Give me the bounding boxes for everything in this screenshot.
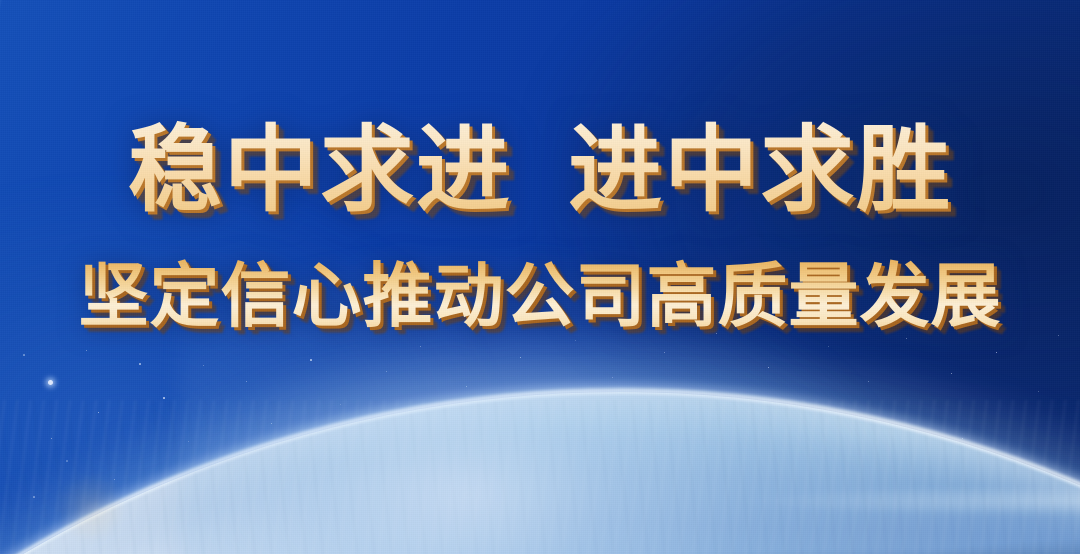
headline-title: 稳中求进 进中求胜 [0, 118, 1080, 222]
poster-banner: 稳中求进 进中求胜 坚定信心推动公司高质量发展 [0, 0, 1080, 554]
lens-flare-dot [55, 472, 125, 542]
title-block: 稳中求进 进中求胜 坚定信心推动公司高质量发展 [0, 118, 1080, 334]
subheadline-title: 坚定信心推动公司高质量发展 [0, 258, 1080, 334]
